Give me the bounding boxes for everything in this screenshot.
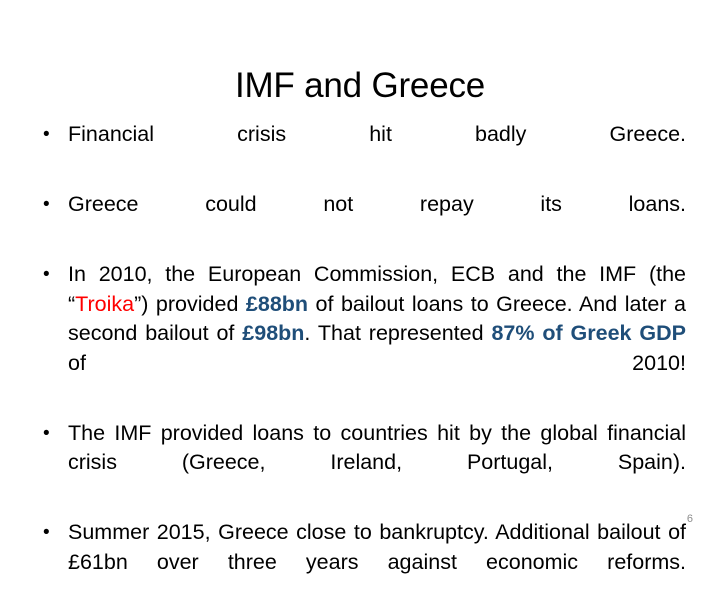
list-item: In 2010, the European Commission, ECB an… [38, 260, 686, 408]
bullet-2-text: Greece could not repay its loans. [68, 190, 686, 249]
emphasis-run: £88bn [246, 292, 308, 316]
bullet-3-text: In 2010, the European Commission, ECB an… [68, 260, 686, 408]
slide-canvas: IMF and Greece Financial crisis hit badl… [0, 0, 720, 540]
emphasis-run: 87% of Greek GDP [491, 321, 686, 345]
bullet-1-text: Financial crisis hit badly Greece. [68, 120, 686, 179]
list-item: Greece could not repay its loans. [38, 190, 686, 249]
emphasis-run: £98bn [242, 321, 304, 345]
bullet-list: Financial crisis hit badly Greece. Greec… [38, 120, 686, 607]
bullet-4-text: The IMF provided loans to countries hit … [68, 419, 686, 508]
list-item: Summer 2015, Greece close to bankruptcy.… [38, 518, 686, 607]
text-run: Summer 2015, Greece close to bankruptcy.… [68, 520, 686, 574]
text-run: of 2010! [68, 351, 686, 375]
text-run: Financial crisis hit badly Greece. [68, 122, 686, 146]
text-run: ”) provided [134, 292, 246, 316]
bullet-5-text: Summer 2015, Greece close to bankruptcy.… [68, 518, 686, 607]
list-item: Financial crisis hit badly Greece. [38, 120, 686, 179]
text-run: . That represented [304, 321, 491, 345]
page-number: 6 [687, 512, 693, 526]
emphasis-run: Troika [75, 292, 134, 316]
text-run: Greece could not repay its loans. [68, 192, 686, 216]
page-title: IMF and Greece [36, 63, 684, 113]
list-item: The IMF provided loans to countries hit … [38, 419, 686, 508]
text-run: The IMF provided loans to countries hit … [68, 421, 686, 475]
